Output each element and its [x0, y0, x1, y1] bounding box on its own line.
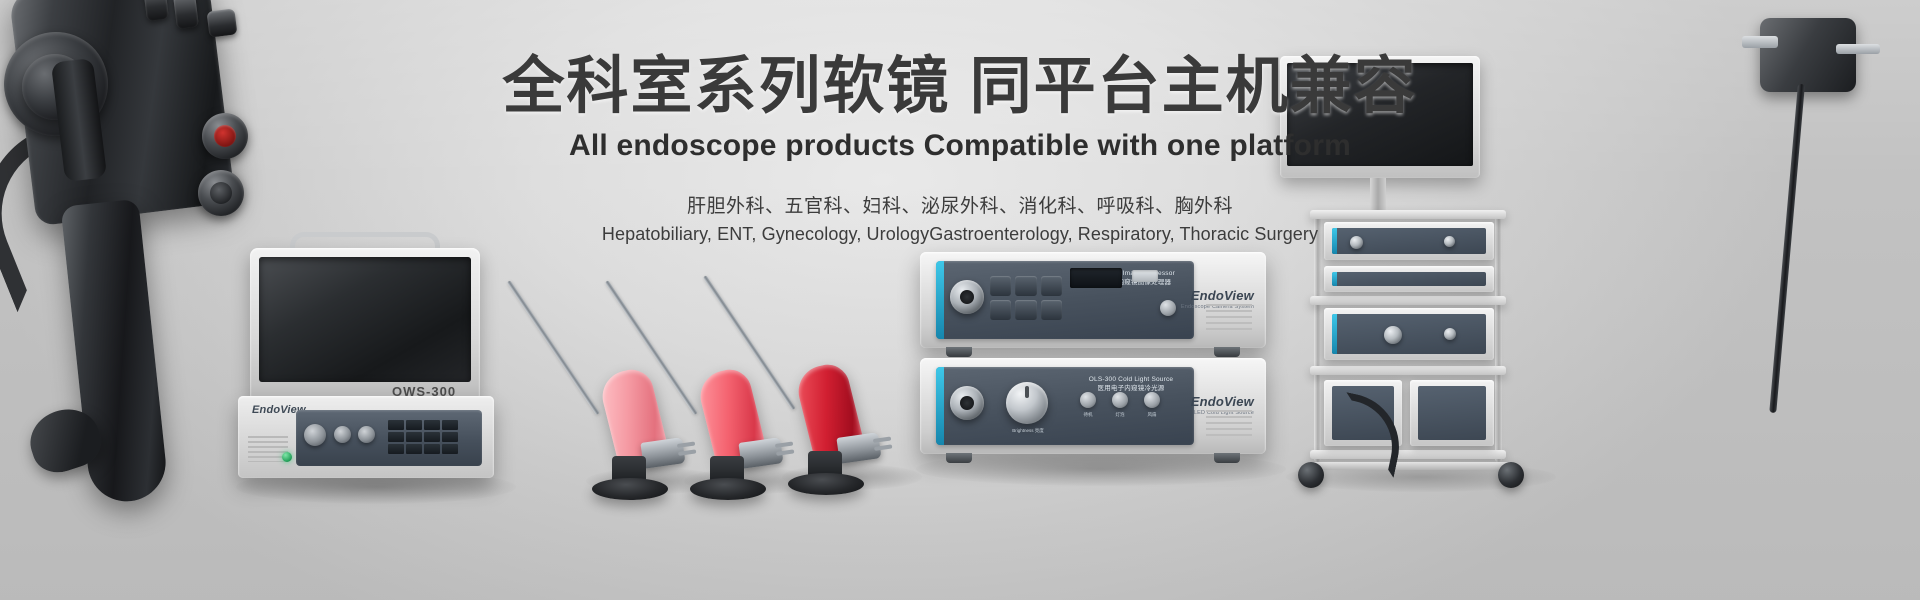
banner-subheadline: All endoscope products Compatible with o…: [0, 129, 1920, 163]
processor-usb-port: [1132, 270, 1158, 282]
light-source-button-label-3: 风扇: [1142, 412, 1162, 418]
processor-stack-product-image: OWS-8200 Image Processor 医用电子内窥镜图像处理器 En…: [920, 252, 1270, 464]
light-source-feet: [946, 453, 1240, 463]
light-source-vent-grille: [1206, 410, 1252, 440]
processor-brand-label: EndoView: [1191, 288, 1254, 303]
light-source-unit: OLS-300 Cold Light Source 医用电子内窥镜冷光源 Bri…: [920, 358, 1266, 454]
scope-light-post-clamp: [738, 437, 783, 469]
light-source-brightness-knob: [1006, 382, 1048, 424]
cart-post-right: [1495, 210, 1502, 462]
endoscope-button-3: [207, 8, 238, 37]
endoscope-button-1: [143, 0, 169, 21]
light-source-button-label-1: 待机: [1078, 412, 1098, 418]
cart-frame: [1310, 210, 1506, 470]
rigid-scope-red: [786, 245, 916, 495]
processor-keypad: [990, 276, 1062, 320]
light-source-accent-strip: [936, 367, 944, 445]
cart-device-3-accent: [1332, 314, 1337, 354]
cart-shelf-2: [1310, 296, 1506, 305]
processor-feet: [946, 347, 1240, 357]
processor-power-button: [1160, 300, 1176, 316]
workstation-model-label: OWS-300: [392, 384, 456, 399]
workstation-product-image: OWS-300 EndoView: [238, 248, 500, 488]
cart-device-3-button: [1444, 328, 1456, 340]
workstation-port-2: [334, 426, 351, 443]
light-source-button-label-2: 灯泡: [1110, 412, 1130, 418]
cart-device-3-panel: [1332, 314, 1486, 354]
cart-shelf-3: [1310, 366, 1506, 375]
banner-headline: 全科室系列软镜 同平台主机兼容: [0, 52, 1920, 121]
workstation-port-3: [358, 426, 375, 443]
workstation-display-bezel: [250, 248, 480, 398]
scope-light-post-clamp: [836, 432, 881, 464]
scope-stand-base: [592, 478, 668, 500]
cart-device-3-knob: [1384, 326, 1402, 344]
cart-device-3: [1324, 308, 1494, 360]
scope-stand-base: [788, 473, 864, 495]
scope-holder-clip-left: [1742, 36, 1778, 48]
cart-device-2-panel: [1332, 272, 1486, 286]
workstation-display-screen: [259, 257, 471, 382]
cart-device-5: [1410, 380, 1494, 446]
specialties-english: Hepatobiliary, ENT, Gynecology, UrologyG…: [0, 224, 1920, 245]
cart-caster-right: [1498, 462, 1524, 488]
processor-scope-socket: [950, 280, 984, 314]
light-source-button-fan: [1144, 392, 1160, 408]
image-processor-unit: OWS-8200 Image Processor 医用电子内窥镜图像处理器 En…: [920, 252, 1266, 348]
processor-accent-strip: [936, 261, 944, 339]
scope-stand-base: [690, 478, 766, 500]
specialties-chinese: 肝胆外科、五官科、妇科、泌尿外科、消化科、呼吸科、胸外科: [0, 191, 1920, 218]
scope-optical-rod: [507, 280, 600, 415]
brightness-knob-label: Brightness 亮度: [1002, 428, 1054, 434]
cart-device-2-accent: [1332, 272, 1337, 286]
banner-text-block: 全科室系列软镜 同平台主机兼容 All endoscope products C…: [0, 52, 1920, 245]
light-source-button-standby: [1080, 392, 1096, 408]
processor-display: [1070, 268, 1122, 288]
scope-light-post-clamp: [640, 437, 685, 469]
light-source-brand-label: EndoView: [1191, 394, 1254, 409]
cart-post-left: [1314, 210, 1321, 462]
endoscope-button-2: [173, 0, 199, 29]
cart-device-5-panel: [1418, 386, 1486, 440]
light-source-fiber-socket: [950, 386, 984, 420]
cart-caster-left: [1298, 462, 1324, 488]
workstation-power-led: [282, 452, 292, 462]
promo-banner: 全科室系列软镜 同平台主机兼容 All endoscope products C…: [0, 0, 1920, 600]
workstation-base-unit: OWS-300 EndoView: [238, 396, 494, 478]
light-source-button-lamp: [1112, 392, 1128, 408]
workstation-port-1: [304, 424, 326, 446]
processor-vent-grille: [1206, 304, 1252, 334]
cart-device-2: [1324, 266, 1494, 292]
workstation-keypad: [388, 420, 458, 454]
